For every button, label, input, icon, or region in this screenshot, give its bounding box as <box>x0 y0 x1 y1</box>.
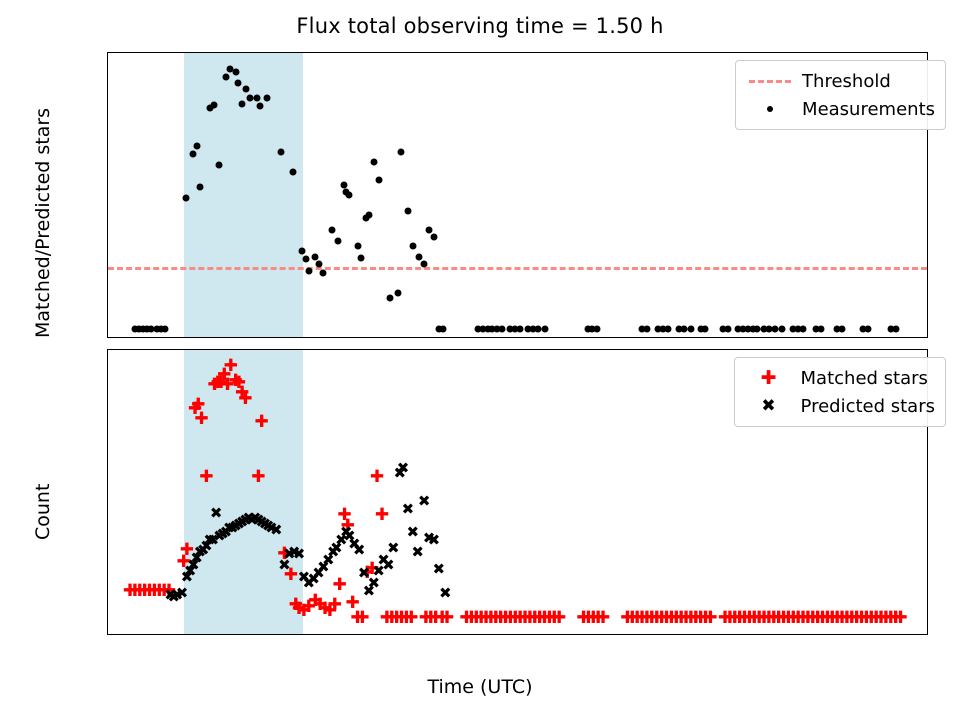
data-point-dot <box>426 226 433 233</box>
x-axis-tick <box>234 337 235 338</box>
cross-marker-icon: ✖ <box>743 395 795 417</box>
data-point-dot <box>489 326 496 333</box>
data-point-dot <box>813 326 820 333</box>
data-point-dot <box>507 326 514 333</box>
data-point-dot <box>655 326 662 333</box>
data-point-dot <box>765 326 772 333</box>
dashed-line-icon <box>744 70 796 92</box>
observing-window-shade <box>184 350 303 634</box>
y-axis-tick <box>107 329 108 330</box>
x-axis-tick <box>559 634 560 635</box>
plus-marker-icon: ✚ <box>743 367 795 389</box>
data-point-dot <box>416 253 423 260</box>
legend-label-predicted: Predicted stars <box>795 396 935 417</box>
data-point-dot <box>144 326 151 333</box>
data-point-dot <box>499 326 506 333</box>
x-axis-tick <box>315 634 316 635</box>
data-point-dot <box>639 326 646 333</box>
data-point-dot <box>479 326 486 333</box>
y-axis-tick <box>107 616 108 617</box>
data-point-dot <box>535 326 542 333</box>
data-point-dot <box>362 215 369 222</box>
data-point-dot <box>439 326 446 333</box>
data-point-dot <box>320 270 327 277</box>
data-point-dot <box>817 326 824 333</box>
data-point-dot <box>795 326 802 333</box>
data-point-dot <box>772 326 779 333</box>
x-axis-tick <box>397 337 398 338</box>
data-point-dot <box>139 326 146 333</box>
y-axis-tick <box>107 143 108 144</box>
data-point-dot <box>354 242 361 249</box>
data-point-dot <box>594 326 601 333</box>
x-axis-tick <box>803 634 804 635</box>
y-axis-tick <box>107 80 108 81</box>
x-axis-tick <box>315 337 316 338</box>
data-point-dot <box>702 326 709 333</box>
data-point-dot <box>589 326 596 333</box>
data-point-dot <box>725 326 732 333</box>
data-point-dot <box>541 326 548 333</box>
data-point-dot <box>720 326 727 333</box>
data-point-dot <box>512 326 519 333</box>
data-point-dot <box>530 326 537 333</box>
legend-item-predicted: ✖ Predicted stars <box>743 392 935 420</box>
data-point-dot <box>398 149 405 156</box>
data-point-dot <box>357 255 364 262</box>
data-point-dot <box>734 326 741 333</box>
y-axis-tick <box>107 411 108 412</box>
data-point-dot <box>887 326 894 333</box>
data-point-dot <box>375 176 382 183</box>
x-axis-tick <box>153 337 154 338</box>
data-point-dot <box>328 226 335 233</box>
data-point-dot <box>153 326 160 333</box>
data-point-dot <box>643 326 650 333</box>
x-axis-tick <box>722 337 723 338</box>
legend-label-threshold: Threshold <box>796 71 891 92</box>
x-axis-tick <box>640 634 641 635</box>
legend-label-matched: Matched stars <box>795 368 928 389</box>
x-axis-tick <box>397 634 398 635</box>
data-point-dot <box>760 326 767 333</box>
data-point-dot <box>517 326 524 333</box>
y-axis-tick <box>107 565 108 566</box>
data-point-dot <box>387 294 394 301</box>
data-point-dot <box>790 326 797 333</box>
data-point-dot <box>395 289 402 296</box>
data-point-dot <box>157 326 164 333</box>
legend-label-measurements: Measurements <box>796 99 935 120</box>
x-axis-tick <box>478 337 479 338</box>
y-axis-tick <box>107 462 108 463</box>
data-point-dot <box>409 242 416 249</box>
data-point-dot <box>148 326 155 333</box>
page-title: Flux total observing time = 1.50 h <box>0 14 960 38</box>
data-point-dot <box>335 237 342 244</box>
x-axis-tick <box>803 337 804 338</box>
y-axis-tick <box>107 267 108 268</box>
data-point-dot <box>665 326 672 333</box>
data-point-dot <box>525 326 532 333</box>
data-point-dot <box>435 326 442 333</box>
data-point-dot <box>370 159 377 166</box>
x-axis-tick <box>234 634 235 635</box>
y-axis-label-bottom: Count <box>32 484 54 540</box>
data-point-dot <box>697 326 704 333</box>
data-point-dot <box>865 326 872 333</box>
x-axis-tick <box>153 634 154 635</box>
threshold-line <box>108 267 927 270</box>
observing-window-shade <box>184 53 303 337</box>
data-point-dot <box>430 234 437 241</box>
data-point-dot <box>749 326 756 333</box>
data-point-dot <box>892 326 899 333</box>
y-axis-tick <box>107 513 108 514</box>
dot-marker-icon <box>744 98 796 120</box>
x-axis-tick <box>884 634 885 635</box>
x-axis-tick <box>722 634 723 635</box>
data-point-dot <box>754 326 761 333</box>
data-point-dot <box>404 207 411 214</box>
legend-count: ✚ Matched stars ✖ Predicted stars <box>734 357 946 427</box>
x-axis-tick <box>884 337 885 338</box>
data-point-dot <box>584 326 591 333</box>
data-point-dot <box>681 326 688 333</box>
data-point-dot <box>346 191 353 198</box>
x-axis-tick <box>640 337 641 338</box>
data-point-dot <box>676 326 683 333</box>
legend-item-measurements: Measurements <box>744 95 935 123</box>
x-axis-tick <box>478 634 479 635</box>
chart-figure: Flux total observing time = 1.50 h Match… <box>0 0 960 720</box>
data-point-dot <box>365 211 372 218</box>
data-point-dot <box>800 326 807 333</box>
data-point-dot <box>303 256 310 263</box>
data-point-dot <box>739 326 746 333</box>
data-point-dot <box>312 253 319 260</box>
x-axis-tick <box>559 337 560 338</box>
data-point-dot <box>131 326 138 333</box>
data-point-dot <box>135 326 142 333</box>
data-point-dot <box>834 326 841 333</box>
data-point-dot <box>860 326 867 333</box>
y-axis-tick <box>107 360 108 361</box>
data-point-dot <box>839 326 846 333</box>
data-point-dot <box>161 326 168 333</box>
data-point-dot <box>494 326 501 333</box>
data-point-dot <box>343 189 350 196</box>
y-axis-tick <box>107 205 108 206</box>
data-point-dot <box>660 326 667 333</box>
data-point-dot <box>340 181 347 188</box>
x-axis-label: Time (UTC) <box>0 676 960 698</box>
legend-item-threshold: Threshold <box>744 67 935 95</box>
data-point-dot <box>474 326 481 333</box>
data-point-dot <box>484 326 491 333</box>
data-point-dot <box>687 326 694 333</box>
legend-item-matched: ✚ Matched stars <box>743 364 935 392</box>
y-axis-label-top: Matched/Predicted stars <box>32 108 54 338</box>
data-point-dot <box>778 326 785 333</box>
data-point-dot <box>744 326 751 333</box>
legend-ratio: Threshold Measurements <box>735 60 946 130</box>
